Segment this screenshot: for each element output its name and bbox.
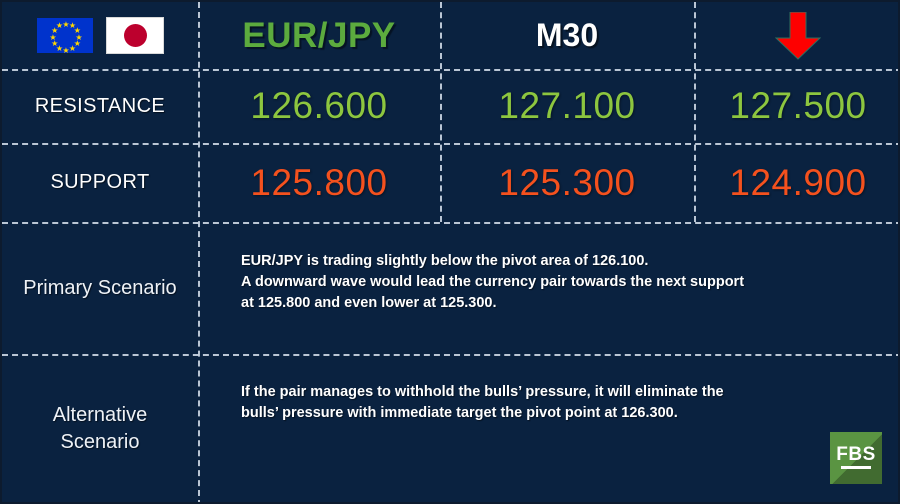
japan-flag-icon (106, 17, 164, 54)
primary-scenario-line-1: EUR/JPY is trading slightly below the pi… (241, 251, 861, 272)
fbs-logo-text: FBS (830, 444, 882, 466)
support-value-3: 124.900 (729, 162, 866, 204)
support-label: SUPPORT (50, 171, 149, 194)
currency-pair-label: EUR/JPY (242, 16, 395, 56)
alternative-scenario-text: If the pair manages to withhold the bull… (241, 382, 861, 424)
primary-scenario-label: Primary Scenario (23, 275, 176, 302)
primary-scenario-line-3: at 125.800 and even lower at 125.300. (241, 293, 861, 314)
support-value-2-cell: 125.300 (440, 143, 694, 222)
timeframe-label: M30 (536, 17, 598, 54)
primary-scenario-text: EUR/JPY is trading slightly below the pi… (241, 251, 861, 314)
support-label-cell: SUPPORT (2, 143, 198, 222)
resistance-value-2-cell: 127.100 (440, 69, 694, 143)
resistance-value-2: 127.100 (498, 85, 635, 127)
currency-pair-cell: EUR/JPY (198, 2, 440, 69)
alternative-scenario-label-line-1: Alternative (53, 402, 148, 429)
trend-cell (694, 2, 900, 69)
alternative-scenario-label-cell: Alternative Scenario (2, 354, 198, 504)
arrow-down-icon (775, 12, 821, 60)
resistance-value-1: 126.600 (250, 85, 387, 127)
primary-scenario-label-cell: Primary Scenario (2, 222, 198, 354)
fbs-logo-underline (841, 466, 871, 469)
resistance-value-3-cell: 127.500 (694, 69, 900, 143)
fbs-logo: FBS (830, 432, 882, 484)
resistance-label: RESISTANCE (35, 95, 165, 118)
flag-pair: ★ ★ ★ ★ ★ ★ ★ ★ ★ ★ ★ ★ (36, 17, 164, 54)
alternative-scenario-label: Alternative Scenario (53, 402, 148, 456)
support-value-1-cell: 125.800 (198, 143, 440, 222)
timeframe-cell: M30 (440, 2, 694, 69)
support-value-3-cell: 124.900 (694, 143, 900, 222)
resistance-value-1-cell: 126.600 (198, 69, 440, 143)
european-union-flag-icon: ★ ★ ★ ★ ★ ★ ★ ★ ★ ★ ★ ★ (36, 17, 94, 54)
primary-scenario-line-2: A downward wave would lead the currency … (241, 272, 861, 293)
support-value-1: 125.800 (250, 162, 387, 204)
resistance-value-3: 127.500 (729, 85, 866, 127)
alternative-scenario-line-1: If the pair manages to withhold the bull… (241, 382, 861, 403)
support-value-2: 125.300 (498, 162, 635, 204)
resistance-label-cell: RESISTANCE (2, 69, 198, 143)
flags-cell: ★ ★ ★ ★ ★ ★ ★ ★ ★ ★ ★ ★ (2, 2, 198, 69)
alternative-scenario-label-line-2: Scenario (53, 429, 148, 456)
alternative-scenario-line-2: bulls’ pressure with immediate target th… (241, 403, 861, 424)
forex-signal-card: ★ ★ ★ ★ ★ ★ ★ ★ ★ ★ ★ ★ EUR/JPY M30 (0, 0, 900, 504)
japan-flag-disc (124, 24, 147, 47)
